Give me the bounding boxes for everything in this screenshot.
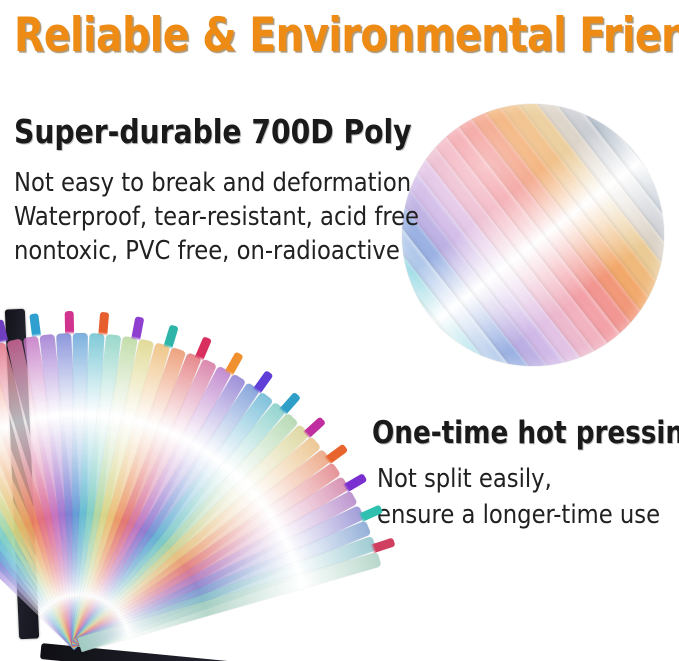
detail-circle-image [402, 104, 664, 366]
pocket-edges-closeup [402, 104, 664, 366]
product-fan-image [0, 295, 385, 661]
feature-body-line: nontoxic, PVC free, on-radioactive [14, 234, 419, 268]
headline-banner: Reliable & Environmental Friendly [14, 8, 619, 64]
feature-body-line: Waterproof, tear-resistant, acid free [14, 200, 419, 234]
feature-body-line: Not easy to break and deformation [14, 166, 419, 200]
feature-heading-durability: Super-durable 700D Poly [14, 113, 412, 151]
feature-body-line: ensure a longer-time use [377, 497, 660, 533]
feature-body-durability: Not easy to break and deformation Waterp… [14, 166, 419, 268]
feature-body-line: Not split easily, [377, 461, 660, 497]
feature-body-hot-pressing: Not split easily, ensure a longer-time u… [377, 461, 660, 533]
feature-heading-hot-pressing: One-time hot pressing [372, 415, 679, 451]
feature-panel: Reliable & Environmental Friendly Super-… [0, 0, 679, 661]
